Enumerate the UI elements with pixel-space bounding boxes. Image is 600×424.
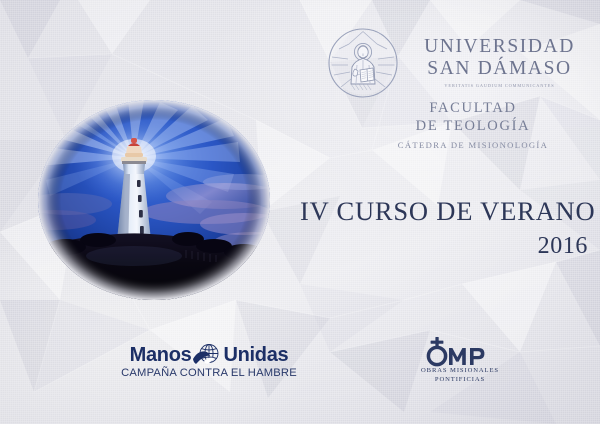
omp-logo: OBRAS MISIONALES PONTIFICIAS — [404, 339, 516, 383]
university-name-line2: SAN DÁMASO — [399, 58, 600, 80]
manos-unidas-tagline: CAMPAÑA CONTRA EL HAMBRE — [112, 367, 306, 379]
poster-canvas: UNIVERSIDAD SAN DÁMASO VERITATIS GAUDIUM… — [0, 0, 600, 424]
omp-subtitle-line1: OBRAS MISIONALES — [404, 367, 516, 376]
university-name-line1: UNIVERSIDAD — [399, 36, 600, 58]
lighthouse-photo — [38, 100, 270, 300]
faculty-name: FACULTAD DE TEOLOGÍA — [368, 99, 578, 135]
manos-unidas-logo: Manos Unidas CAMPAÑA CONTRA EL HAMBRE — [112, 343, 306, 381]
university-seal-christ-pantocrator-icon — [327, 27, 399, 99]
manos-unidas-word1: Manos — [130, 345, 192, 365]
course-title-block: IV CURSO DE VERANO 2016 — [300, 198, 588, 258]
university-seal — [327, 27, 399, 99]
course-title: IV CURSO DE VERANO — [300, 198, 588, 225]
omp-monogram-icon — [417, 337, 503, 367]
faculty-line2: DE TEOLOGÍA — [368, 117, 578, 135]
chair-name: CÁTEDRA DE MISIONOLOGÍA — [368, 140, 578, 150]
globe-with-hands-icon — [192, 342, 222, 368]
manos-unidas-wordmark: Manos Unidas — [112, 343, 306, 366]
course-year: 2016 — [300, 234, 588, 258]
omp-subtitle-line2: PONTIFICIAS — [404, 376, 516, 385]
manos-unidas-word2: Unidas — [223, 345, 288, 365]
university-wordmark: UNIVERSIDAD SAN DÁMASO VERITATIS GAUDIUM… — [399, 36, 600, 88]
university-motto: VERITATIS GAUDIUM COMMUNICANTES — [399, 83, 600, 88]
faculty-line1: FACULTAD — [368, 99, 578, 117]
omp-mark — [404, 339, 516, 367]
